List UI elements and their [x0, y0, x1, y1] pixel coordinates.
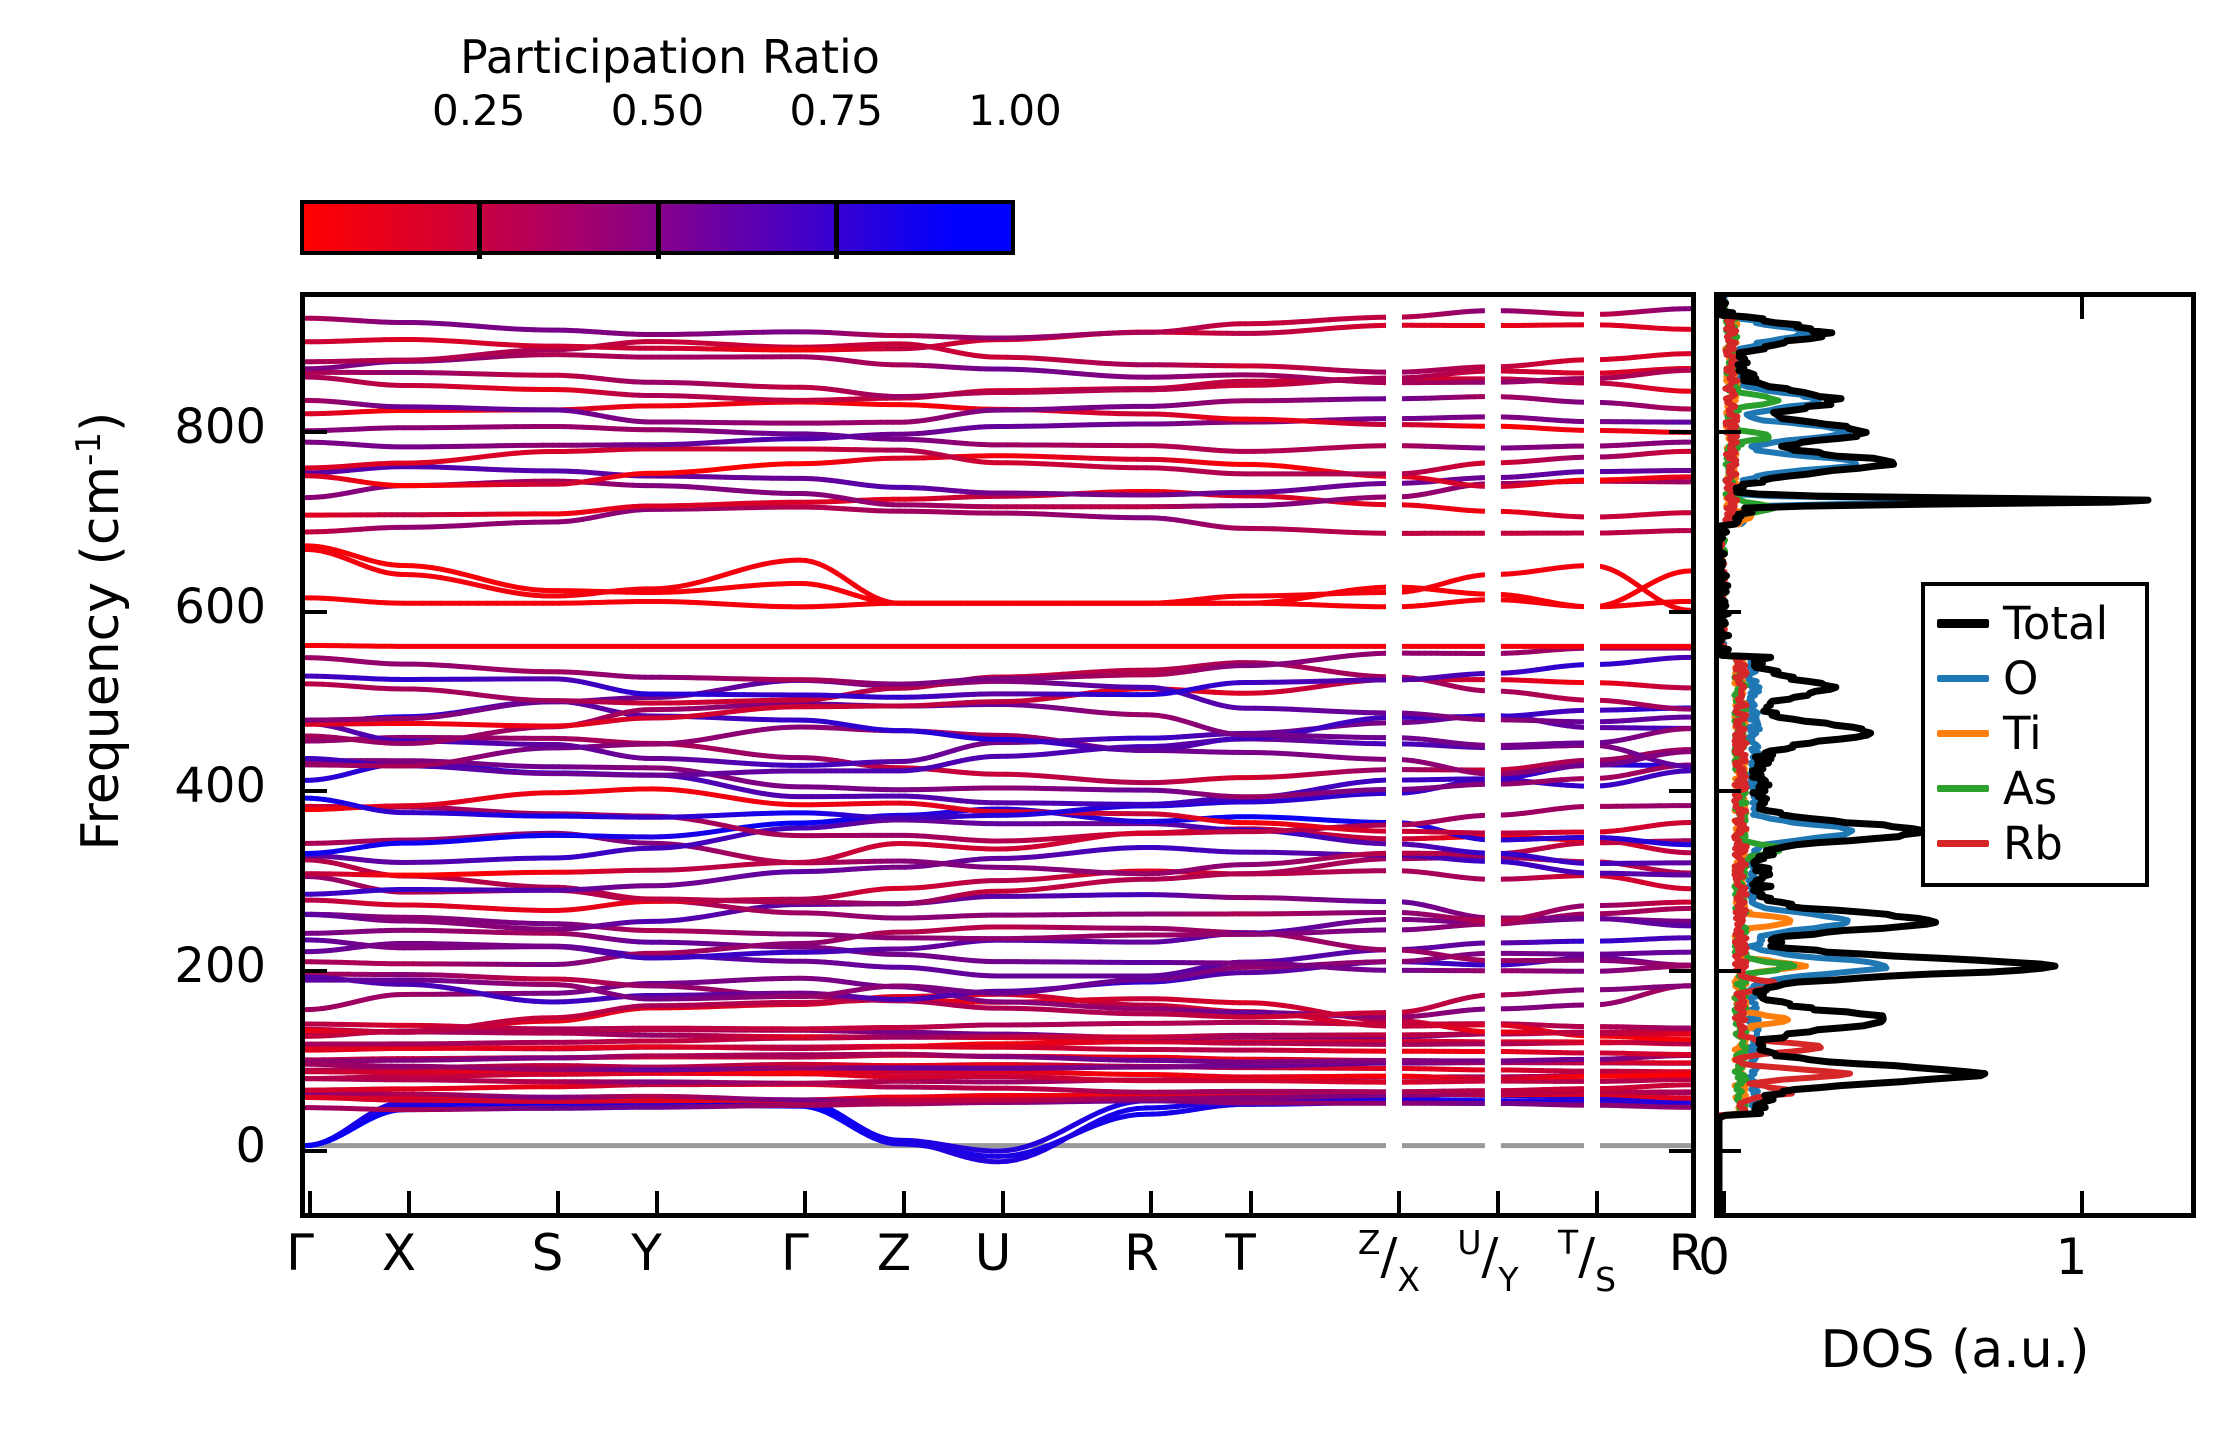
band-x-tick-label: R: [1124, 1228, 1159, 1278]
band-y-tick: [305, 430, 327, 434]
dos-x-tick-label: 0: [1698, 1228, 1730, 1286]
band-y-tick-right: [1669, 969, 1691, 973]
legend-color-swatch: [1937, 675, 1989, 682]
band-y-tick-label: 0: [235, 1118, 266, 1174]
band-x-tick-label: T/S: [1558, 1228, 1616, 1290]
colorbar-tick-mark: [656, 204, 661, 259]
legend-label: Rb: [2003, 821, 2063, 866]
band-y-tick: [305, 1149, 327, 1153]
legend-label: Total: [2003, 601, 2108, 646]
legend-color-swatch: [1937, 785, 1989, 792]
band-x-tick: [803, 1191, 807, 1213]
colorbar-title: Participation Ratio: [300, 30, 1040, 84]
dos-x-tick-top: [1722, 297, 1726, 319]
band-x-tick-label: Y: [631, 1228, 662, 1278]
band-x-tick-label: U: [975, 1228, 1012, 1278]
band-y-tick: [305, 969, 327, 973]
dos-legend[interactable]: TotalOTiAsRb: [1921, 582, 2149, 887]
dos-y-tick: [1719, 789, 1741, 793]
dos-x-tick-labels: 01: [1714, 1228, 2196, 1308]
band-x-tick: [407, 1191, 411, 1213]
band-x-tick: [655, 1191, 659, 1213]
band-y-tick-right: [1669, 789, 1691, 793]
band-x-tick-label: U/Y: [1457, 1228, 1518, 1290]
band-x-tick: [308, 1191, 312, 1213]
frequency-axis-exponent: -1: [69, 432, 109, 466]
band-x-tick: [556, 1191, 560, 1213]
dos-x-tick: [1722, 1191, 1726, 1213]
band-y-tick: [305, 610, 327, 614]
colorbar-tick-mark: [834, 204, 839, 259]
legend-item-ti[interactable]: Ti: [1937, 706, 2133, 761]
dos-y-tick: [1719, 1149, 1741, 1153]
legend-color-swatch: [1937, 619, 1989, 628]
dos-axis-title: DOS (a.u.): [1714, 1320, 2196, 1380]
legend-item-as[interactable]: As: [1937, 761, 2133, 816]
legend-label: O: [2003, 656, 2038, 701]
band-structure-plot-area: [305, 297, 1691, 1213]
figure-canvas: Participation Ratio 0.250.500.751.00 020…: [0, 0, 2222, 1455]
band-y-tick: [305, 789, 327, 793]
frequency-axis-title-tail: ): [71, 412, 131, 432]
band-x-tick-label: S: [532, 1228, 564, 1278]
band-x-tick-label: T: [1225, 1228, 1256, 1278]
band-y-tick-label: 200: [174, 938, 266, 994]
legend-item-total[interactable]: Total: [1937, 596, 2133, 651]
legend-item-o[interactable]: O: [1937, 651, 2133, 706]
frequency-axis-title-text: Frequency (cm: [71, 466, 131, 851]
dos-y-tick: [1719, 969, 1741, 973]
colorbar-tick-mark: [477, 204, 482, 259]
legend-color-swatch: [1937, 730, 1989, 737]
band-x-tick-label: X: [382, 1228, 416, 1278]
band-y-tick-right: [1669, 430, 1691, 434]
band-y-tick-label: 800: [174, 399, 266, 455]
colorbar-tick-label: 0.75: [789, 86, 883, 135]
band-structure-curves: [305, 297, 1691, 1213]
legend-item-rb[interactable]: Rb: [1937, 816, 2133, 871]
legend-label: As: [2003, 766, 2057, 811]
band-x-tick-label: Γ: [781, 1228, 809, 1278]
band-y-tick-right: [1669, 1149, 1691, 1153]
dos-y-tick: [1719, 430, 1741, 434]
band-x-tick: [1149, 1191, 1153, 1213]
frequency-axis-title: Frequency (cm-1): [69, 171, 131, 1091]
band-x-tick: [1496, 1191, 1500, 1213]
band-x-tick: [1691, 1191, 1695, 1213]
band-x-tick-label: Z/X: [1358, 1228, 1420, 1290]
colorbar-tick-label: 1.00: [968, 86, 1062, 135]
band-x-tick-label: Z: [877, 1228, 911, 1278]
colorbar-tick-label: 0.25: [432, 86, 526, 135]
band-structure-axes: [300, 292, 1696, 1218]
legend-color-swatch: [1937, 840, 1989, 847]
band-x-tick-labels: ΓXSYΓZURTZ/XU/YT/SR: [300, 1228, 1696, 1318]
band-y-tick-label: 600: [174, 579, 266, 635]
band-y-tick-labels: 0200400600800: [0, 292, 284, 1218]
dos-x-tick-top: [2080, 297, 2084, 319]
dos-x-tick: [2080, 1191, 2084, 1213]
colorbar-tick-label: 0.50: [611, 86, 705, 135]
dos-y-tick: [1719, 610, 1741, 614]
band-y-tick-right: [1669, 610, 1691, 614]
colorbar-gradient: [300, 200, 1015, 255]
band-x-tick-label: Γ: [286, 1228, 314, 1278]
legend-label: Ti: [2003, 711, 2042, 756]
band-x-tick: [1001, 1191, 1005, 1213]
band-y-tick-label: 400: [174, 758, 266, 814]
band-x-tick: [1249, 1191, 1253, 1213]
colorbar-tick-labels: 0.250.500.751.00: [300, 86, 1040, 132]
band-x-tick: [1595, 1191, 1599, 1213]
band-x-tick: [902, 1191, 906, 1213]
dos-x-tick-label: 1: [2056, 1228, 2088, 1286]
band-x-tick: [1397, 1191, 1401, 1213]
